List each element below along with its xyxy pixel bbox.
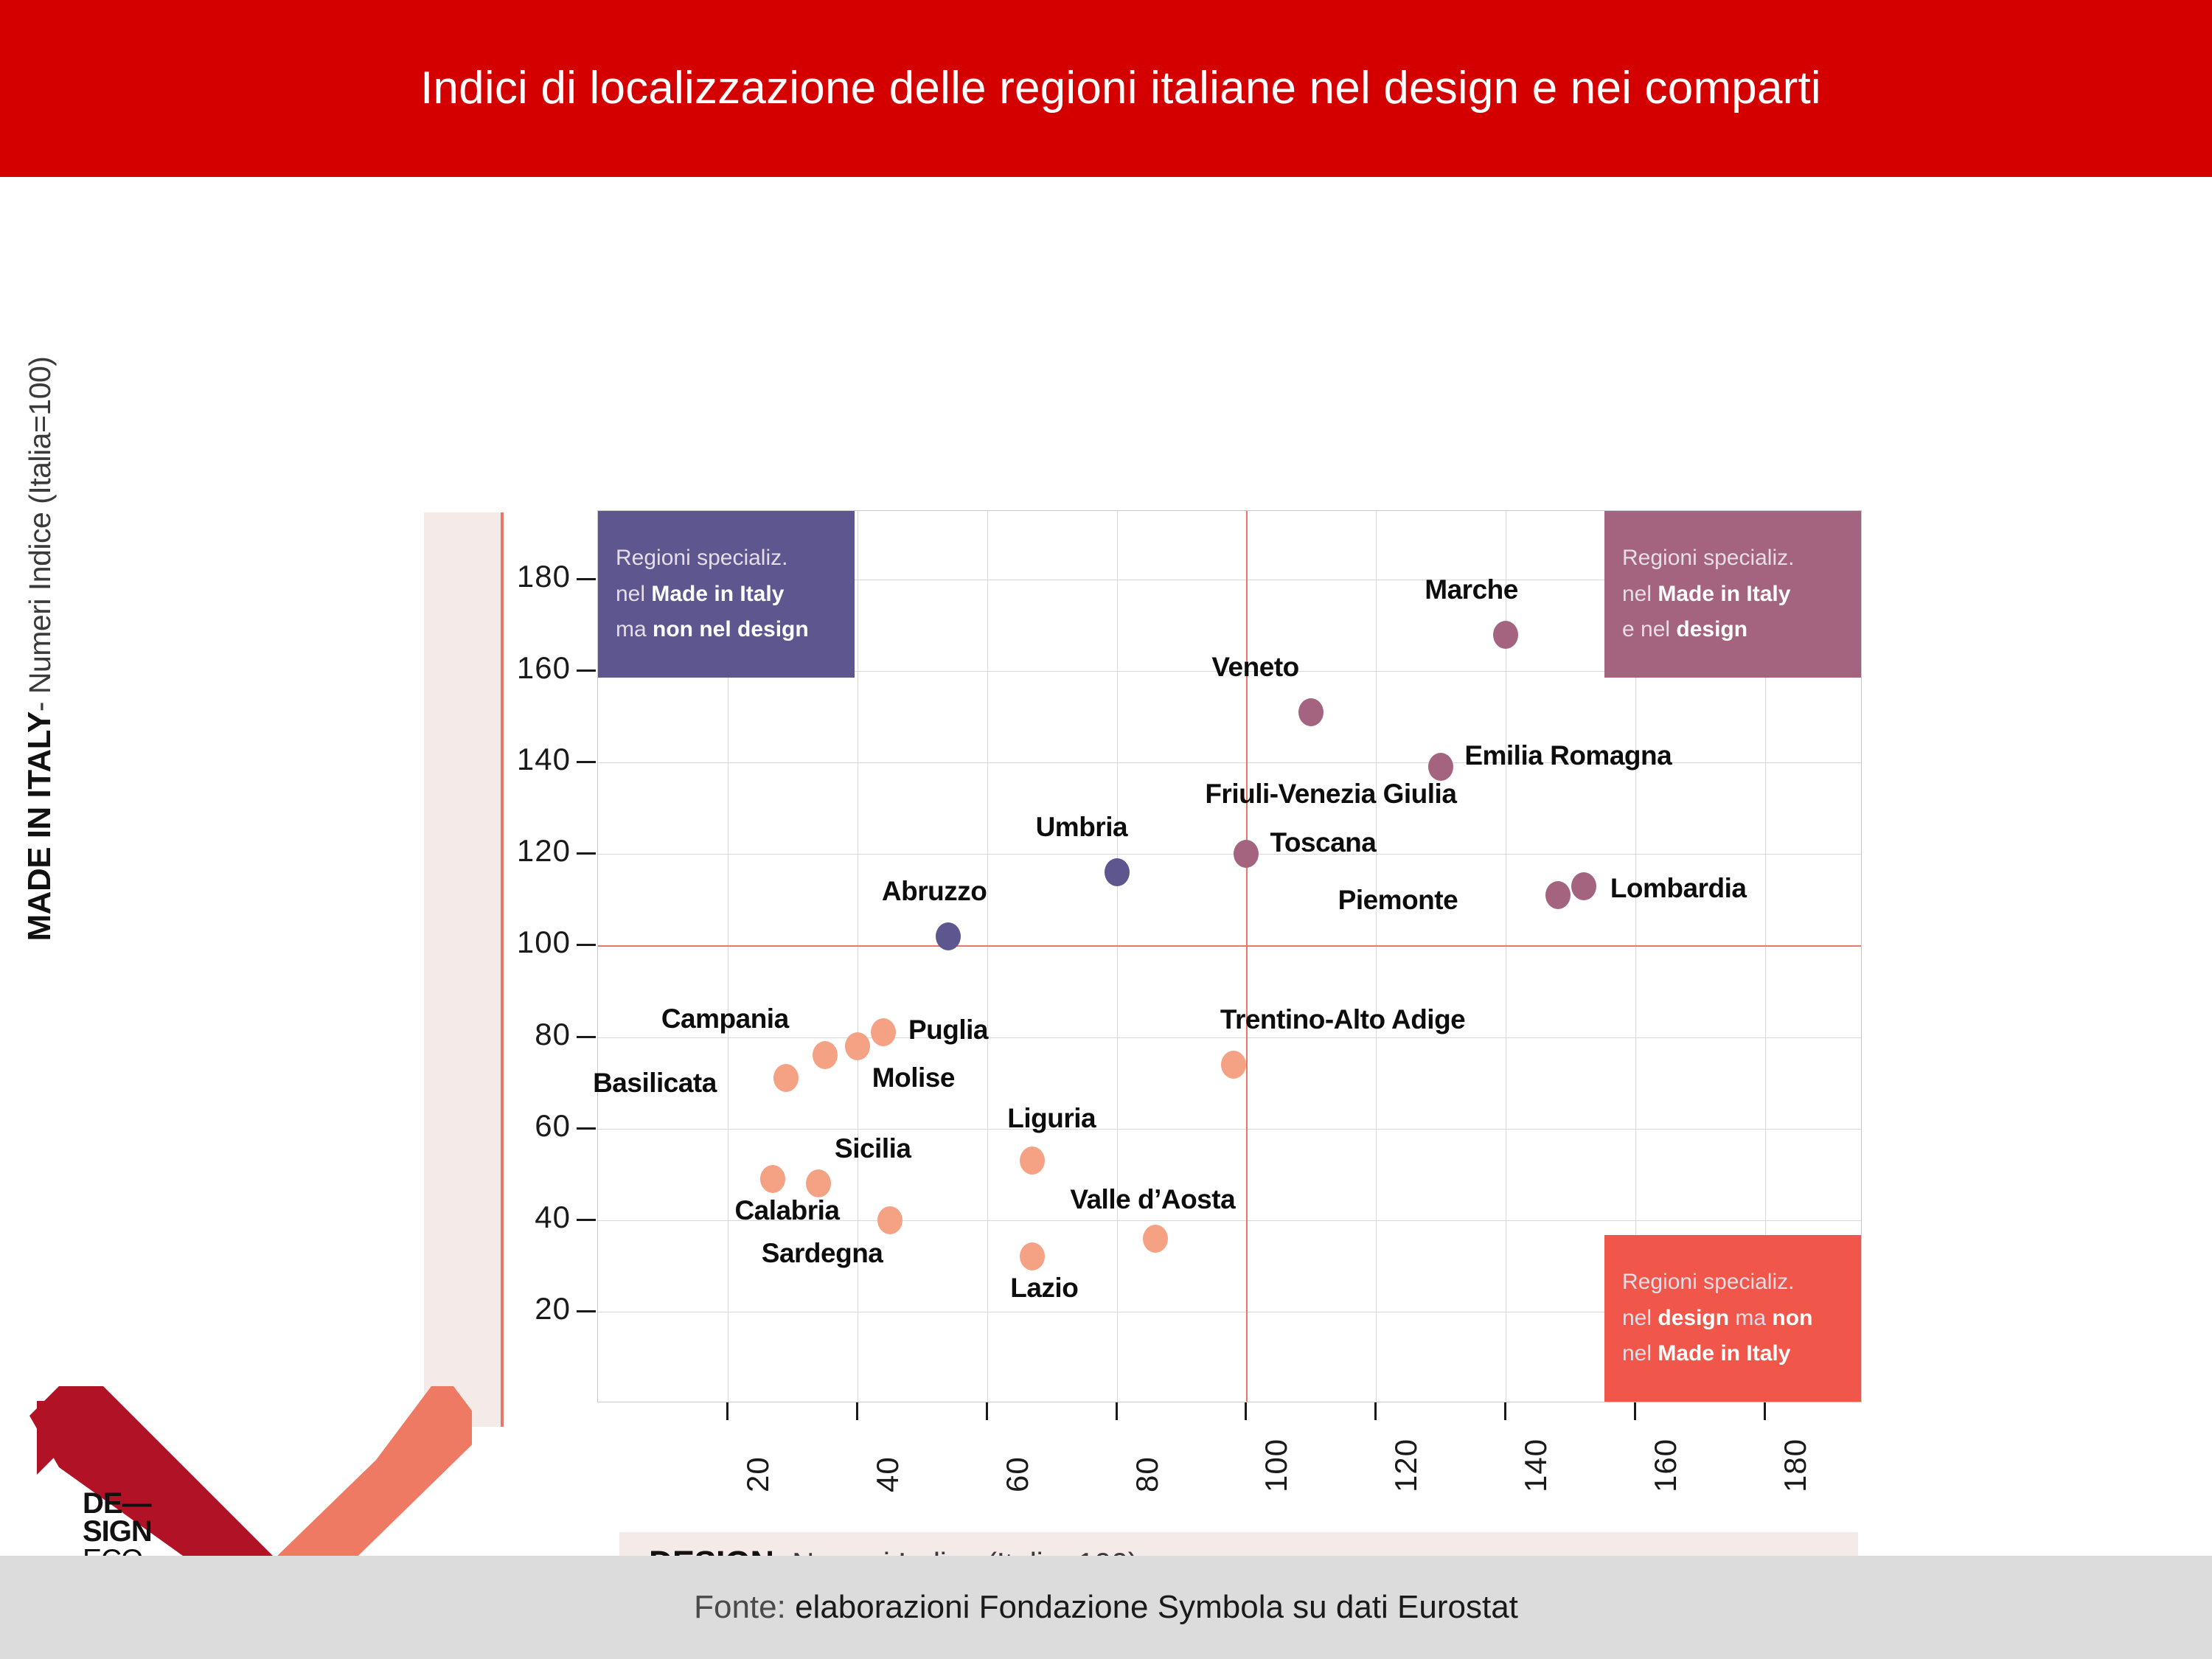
y-axis-title-bold: MADE IN ITALY bbox=[21, 712, 58, 941]
slide-root: Indici di localizzazione delle regioni i… bbox=[0, 0, 2212, 1659]
x-tick-label-80: 80 bbox=[1130, 1456, 1165, 1492]
quad-tl-line3-pre: ma bbox=[616, 617, 653, 641]
x-tick-label-40: 40 bbox=[870, 1456, 905, 1492]
x-tick-mark-180 bbox=[1764, 1402, 1766, 1420]
reference-line-horizontal bbox=[598, 945, 1861, 947]
y-tick-label-80: 80 bbox=[453, 1017, 571, 1052]
quad-tr-line1: Regioni specializ. bbox=[1622, 546, 1794, 570]
source-prefix: Fonte: bbox=[694, 1589, 786, 1625]
data-point-emilia-romagna[interactable] bbox=[1428, 753, 1453, 781]
data-label-friuli-venezia-giulia: Friuli-Venezia Giulia bbox=[1205, 779, 1456, 810]
x-tick-label-120: 120 bbox=[1388, 1439, 1424, 1492]
x-tick-mark-60 bbox=[986, 1402, 988, 1420]
data-point-piemonte[interactable] bbox=[1545, 881, 1571, 909]
x-tick-mark-140 bbox=[1504, 1402, 1506, 1420]
y-tick-label-180: 180 bbox=[453, 559, 571, 594]
data-label-lazio: Lazio bbox=[1010, 1273, 1078, 1304]
x-tick-mark-100 bbox=[1245, 1402, 1247, 1420]
y-tick-mark-80 bbox=[577, 1036, 596, 1038]
y-tick-mark-20 bbox=[577, 1310, 596, 1312]
slide-header: Indici di localizzazione delle regioni i… bbox=[0, 0, 2212, 177]
quad-br-line2-bold: design bbox=[1658, 1306, 1729, 1330]
data-label-toscana: Toscana bbox=[1270, 827, 1376, 858]
data-label-molise: Molise bbox=[872, 1062, 955, 1093]
data-point-sardegna[interactable] bbox=[877, 1206, 902, 1234]
data-label-veneto: Veneto bbox=[1211, 652, 1298, 683]
data-label-basilicata: Basilicata bbox=[593, 1068, 717, 1099]
quad-br-line2-bold2: non bbox=[1772, 1306, 1812, 1330]
data-point-valle-d-aosta[interactable] bbox=[1143, 1225, 1168, 1253]
quad-br-line3-pre: nel bbox=[1622, 1341, 1658, 1366]
y-tick-label-160: 160 bbox=[453, 650, 571, 686]
data-point-basilicata[interactable] bbox=[773, 1064, 799, 1092]
x-tick-label-100: 100 bbox=[1259, 1439, 1294, 1492]
gridline-x-120 bbox=[1376, 511, 1377, 1402]
y-tick-label-120: 120 bbox=[453, 833, 571, 869]
x-tick-mark-40 bbox=[856, 1402, 858, 1420]
data-point-puglia[interactable] bbox=[871, 1018, 896, 1046]
data-label-emilia-romagna: Emilia Romagna bbox=[1464, 740, 1672, 771]
y-tick-mark-60 bbox=[577, 1127, 596, 1130]
data-label-valle-d-aosta: Valle d’Aosta bbox=[1070, 1184, 1235, 1215]
y-axis-band bbox=[424, 512, 504, 1427]
quad-tl-line3-bold: non nel design bbox=[653, 617, 809, 641]
gridline-x-80 bbox=[1117, 511, 1118, 1402]
data-label-piemonte: Piemonte bbox=[1338, 885, 1458, 916]
quad-br-line3-bold: Made in Italy bbox=[1658, 1341, 1790, 1366]
data-point-toscana[interactable] bbox=[1234, 840, 1259, 868]
gridline-y-120 bbox=[598, 854, 1861, 855]
logo-line-2: SIGN bbox=[83, 1517, 274, 1545]
x-tick-label-140: 140 bbox=[1518, 1439, 1554, 1492]
chart-stage: MADE IN ITALY - Numeri Indice (Italia=10… bbox=[0, 177, 2212, 1386]
y-tick-mark-100 bbox=[577, 944, 596, 946]
y-tick-mark-180 bbox=[577, 578, 596, 580]
quad-tr-line2-pre: nel bbox=[1622, 582, 1658, 606]
x-tick-label-180: 180 bbox=[1778, 1439, 1813, 1492]
quad-tr-line3-bold: design bbox=[1676, 617, 1747, 641]
data-point-lombardia[interactable] bbox=[1571, 872, 1596, 900]
y-tick-label-20: 20 bbox=[453, 1291, 571, 1326]
data-label-lombardia: Lombardia bbox=[1610, 873, 1747, 904]
quadrant-box-top-right: Regioni specializ. nel Made in Italy e n… bbox=[1604, 511, 1861, 678]
data-point-liguria[interactable] bbox=[1020, 1147, 1045, 1175]
slide-footer: Fonte: elaborazioni Fondazione Symbola s… bbox=[0, 1556, 2212, 1659]
page-title: Indici di localizzazione delle regioni i… bbox=[391, 63, 1821, 114]
quad-tl-line2-pre: nel bbox=[616, 582, 651, 606]
x-tick-label-20: 20 bbox=[740, 1456, 776, 1492]
x-tick-mark-120 bbox=[1374, 1402, 1377, 1420]
quad-tr-line2-bold: Made in Italy bbox=[1658, 582, 1790, 606]
y-axis-title: MADE IN ITALY - Numeri Indice (Italia=10… bbox=[0, 192, 80, 1106]
data-label-puglia: Puglia bbox=[908, 1015, 988, 1046]
data-point-marche[interactable] bbox=[1493, 621, 1518, 649]
data-label-campania: Campania bbox=[661, 1004, 789, 1034]
y-tick-mark-40 bbox=[577, 1219, 596, 1221]
x-tick-mark-160 bbox=[1634, 1402, 1636, 1420]
quad-tr-line3-pre: e nel bbox=[1622, 617, 1676, 641]
data-point-molise[interactable] bbox=[845, 1032, 870, 1060]
data-label-umbria: Umbria bbox=[1036, 812, 1127, 843]
quad-br-line2-mid: ma bbox=[1729, 1306, 1772, 1330]
gridline-x-60 bbox=[987, 511, 988, 1402]
x-tick-label-60: 60 bbox=[1000, 1456, 1035, 1492]
data-point-calabria[interactable] bbox=[760, 1165, 785, 1193]
x-tick-label-160: 160 bbox=[1648, 1439, 1683, 1492]
data-label-sardegna: Sardegna bbox=[762, 1238, 883, 1269]
data-point-lazio[interactable] bbox=[1020, 1242, 1045, 1270]
data-point-abruzzo[interactable] bbox=[936, 922, 961, 950]
y-tick-label-60: 60 bbox=[453, 1108, 571, 1144]
data-label-liguria: Liguria bbox=[1007, 1103, 1096, 1134]
y-tick-label-100: 100 bbox=[453, 925, 571, 960]
data-label-abruzzo: Abruzzo bbox=[882, 876, 987, 907]
gridline-y-80 bbox=[598, 1037, 1861, 1038]
x-tick-mark-20 bbox=[726, 1402, 728, 1420]
y-tick-mark-140 bbox=[577, 761, 596, 763]
data-label-sicilia: Sicilia bbox=[835, 1133, 911, 1164]
y-tick-mark-160 bbox=[577, 669, 596, 672]
data-point-campania[interactable] bbox=[813, 1041, 838, 1069]
data-point-sicilia[interactable] bbox=[806, 1169, 831, 1197]
source-text: elaborazioni Fondazione Symbola su dati … bbox=[786, 1589, 1518, 1625]
y-tick-mark-120 bbox=[577, 852, 596, 855]
y-tick-label-40: 40 bbox=[453, 1200, 571, 1235]
y-axis-title-rest: - Numeri Indice (Italia=100) bbox=[23, 357, 58, 712]
data-point-trentino-alto-adige[interactable] bbox=[1221, 1051, 1246, 1079]
y-tick-label-140: 140 bbox=[453, 742, 571, 777]
plot-area: Regioni specializ. nel Made in Italy ma … bbox=[597, 510, 1862, 1402]
gridline-y-60 bbox=[598, 1129, 1861, 1130]
quadrant-box-top-left: Regioni specializ. nel Made in Italy ma … bbox=[598, 511, 855, 678]
quad-br-line1: Regioni specializ. bbox=[1622, 1270, 1794, 1294]
quad-br-line2-pre: nel bbox=[1622, 1306, 1658, 1330]
x-tick-mark-80 bbox=[1116, 1402, 1118, 1420]
quad-tl-line2-bold: Made in Italy bbox=[651, 582, 784, 606]
reference-line-vertical bbox=[1246, 511, 1248, 1402]
logo-line-1: DE— bbox=[83, 1489, 274, 1517]
data-label-trentino-alto-adige: Trentino-Alto Adige bbox=[1220, 1004, 1465, 1035]
quadrant-box-bottom-right: Regioni specializ. nel design ma non nel… bbox=[1604, 1235, 1861, 1402]
source-note: Fonte: elaborazioni Fondazione Symbola s… bbox=[694, 1589, 1518, 1626]
data-label-marche: Marche bbox=[1425, 574, 1518, 605]
quad-tl-line1: Regioni specializ. bbox=[616, 546, 787, 570]
data-label-calabria: Calabria bbox=[734, 1195, 839, 1226]
data-point-veneto[interactable] bbox=[1298, 698, 1324, 726]
data-point-umbria[interactable] bbox=[1105, 858, 1130, 886]
